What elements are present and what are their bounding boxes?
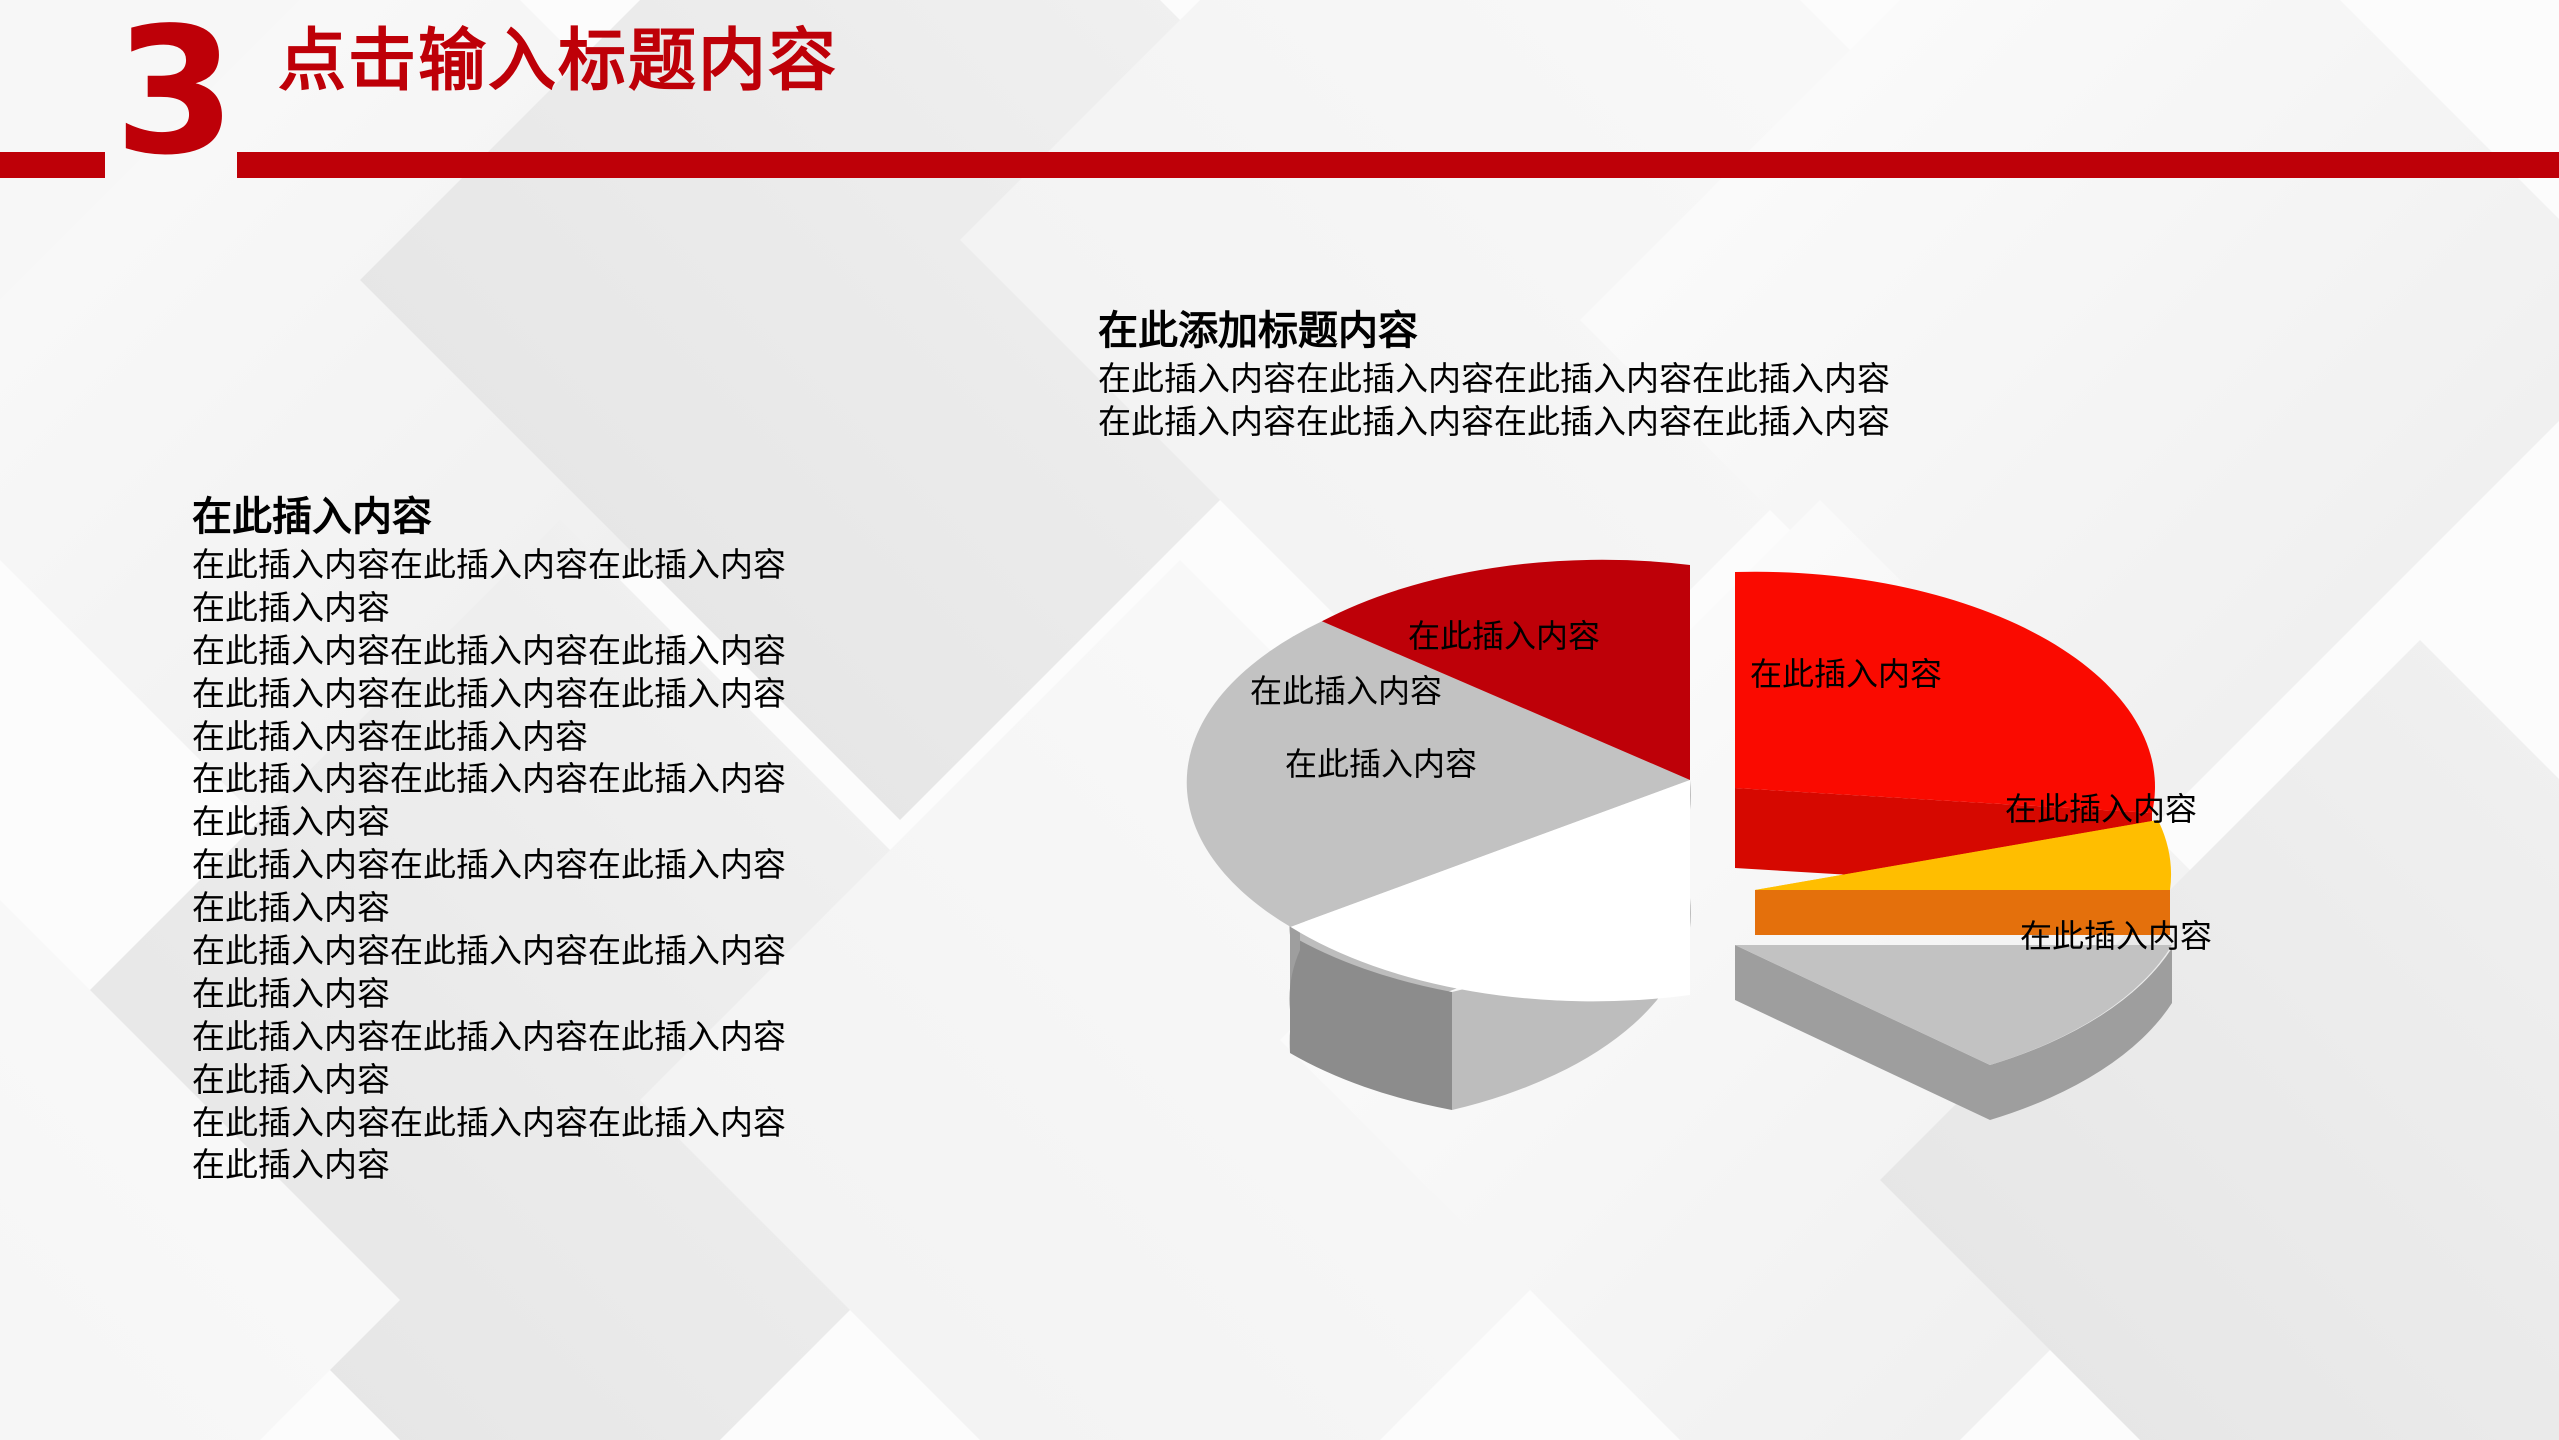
slide-header: 3 点击输入标题内容: [0, 0, 2559, 200]
header-rule-left: [0, 152, 105, 178]
top-block-line: 在此插入内容在此插入内容在此插入内容在此插入内容: [1098, 401, 1890, 444]
left-block-line: 在此插入内容在此插入内容在此插入内容: [192, 844, 786, 887]
left-block-line: 在此插入内容: [192, 887, 786, 930]
left-text-block: 在此插入内容 在此插入内容在此插入内容在此插入内容 在此插入内容 在此插入内容在…: [192, 494, 786, 1187]
left-block-line: 在此插入内容在此插入内容在此插入内容: [192, 930, 786, 973]
left-block-line: 在此插入内容: [192, 1144, 786, 1187]
top-block-heading: 在此添加标题内容: [1098, 308, 1890, 354]
slide-number: 3: [108, 8, 238, 178]
pie-slice-gray-bottom[interactable]: [1735, 945, 2172, 1120]
slice-label-white: 在此插入内容: [1285, 748, 1477, 780]
top-block-line: 在此插入内容在此插入内容在此插入内容在此插入内容: [1098, 358, 1890, 401]
left-block-line: 在此插入内容: [192, 801, 786, 844]
left-block-line: 在此插入内容在此插入内容在此插入内容: [192, 758, 786, 801]
left-block-line: 在此插入内容: [192, 1059, 786, 1102]
slice-label-gray-upper-left: 在此插入内容: [1250, 675, 1442, 707]
left-block-line: 在此插入内容在此插入内容在此插入内容: [192, 1016, 786, 1059]
left-block-line: 在此插入内容在此插入内容: [192, 716, 786, 759]
pie-slice-bright-red-top[interactable]: [1735, 572, 2155, 813]
left-block-line: 在此插入内容: [192, 973, 786, 1016]
slice-label-bright-red: 在此插入内容: [1750, 658, 1942, 690]
pie-chart[interactable]: 在此插入内容 在此插入内容 在此插入内容 在此插入内容 在此插入内容 在此插入内…: [1000, 480, 2420, 1260]
top-text-block: 在此添加标题内容 在此插入内容在此插入内容在此插入内容在此插入内容 在此插入内容…: [1098, 308, 1890, 444]
left-block-line: 在此插入内容在此插入内容在此插入内容: [192, 630, 786, 673]
page-title: 点击输入标题内容: [278, 26, 838, 97]
left-block-line: 在此插入内容在此插入内容在此插入内容: [192, 544, 786, 587]
left-block-heading: 在此插入内容: [192, 494, 786, 540]
left-block-line: 在此插入内容在此插入内容在此插入内容: [192, 673, 786, 716]
header-rule-right: [237, 152, 2559, 178]
left-block-line: 在此插入内容: [192, 587, 786, 630]
slice-label-dark-red: 在此插入内容: [1408, 620, 1600, 652]
slice-label-gray-bottom: 在此插入内容: [2020, 920, 2212, 952]
pie-chart-svg: [1000, 480, 2420, 1260]
slice-label-amber: 在此插入内容: [2005, 793, 2197, 825]
left-block-line: 在此插入内容在此插入内容在此插入内容: [192, 1102, 786, 1145]
